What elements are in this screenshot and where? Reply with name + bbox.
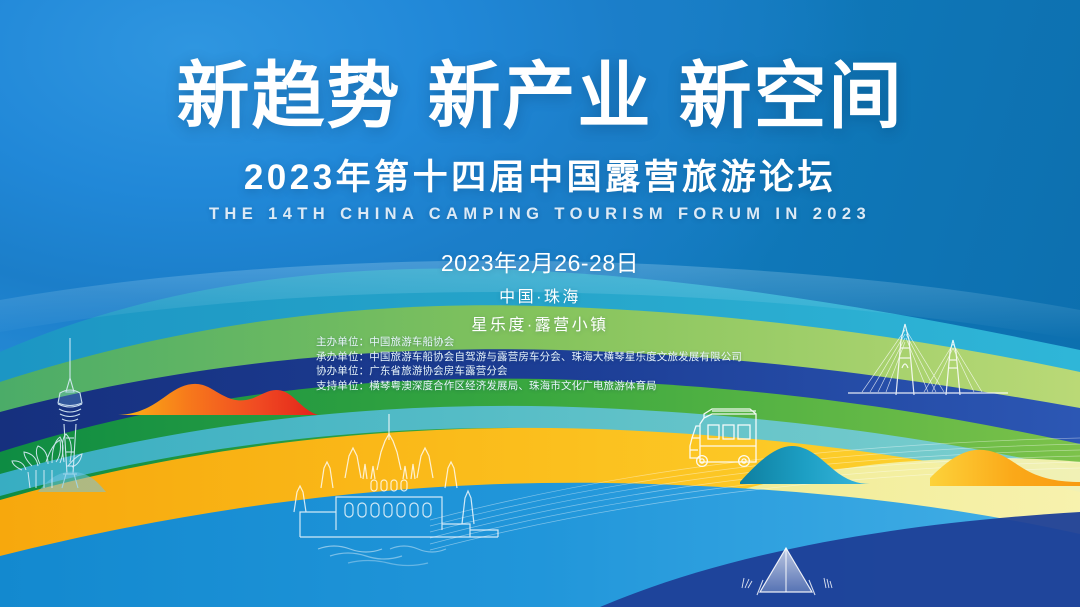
poster-text-block: 新趋势新产业新空间 2023年第十四届中国露营旅游论坛 THE 14TH CHI… <box>0 0 1080 335</box>
subtitle-chinese: 2023年第十四届中国露营旅游论坛 <box>0 149 1080 200</box>
organizer-credits: 主办单位：中国旅游车船协会 承办单位：中国旅游车船协会自驾游与露营房车分会、珠海… <box>316 335 742 393</box>
credit-line-supporter: 支持单位：横琴粤澳深度合作区经济发展局、珠海市文化广电旅游体育局 <box>316 379 742 394</box>
credit-line-coorganizer: 协办单位：广东省旅游协会房车露营分会 <box>316 364 742 379</box>
page-title: 新趋势新产业新空间 <box>0 0 1080 135</box>
subtitle-english: THE 14TH CHINA CAMPING TOURISM FORUM IN … <box>0 205 1080 224</box>
headline-part-2: 新产业 <box>428 56 653 137</box>
headline-part-1: 新趋势 <box>177 56 402 137</box>
credit-line-organizer: 承办单位：中国旅游车船协会自驾游与露营房车分会、珠海大横琴星乐度文旅发展有限公司 <box>316 350 742 365</box>
credit-line-host: 主办单位：中国旅游车船协会 <box>316 335 742 350</box>
event-city: 中国·珠海 <box>0 283 1080 307</box>
camping-forum-poster: 新趋势新产业新空间 2023年第十四届中国露营旅游论坛 THE 14TH CHI… <box>0 0 1080 607</box>
event-date: 2023年2月26-28日 <box>0 244 1080 278</box>
headline-part-3: 新空间 <box>679 56 904 137</box>
event-venue: 星乐度·露营小镇 <box>0 311 1080 335</box>
